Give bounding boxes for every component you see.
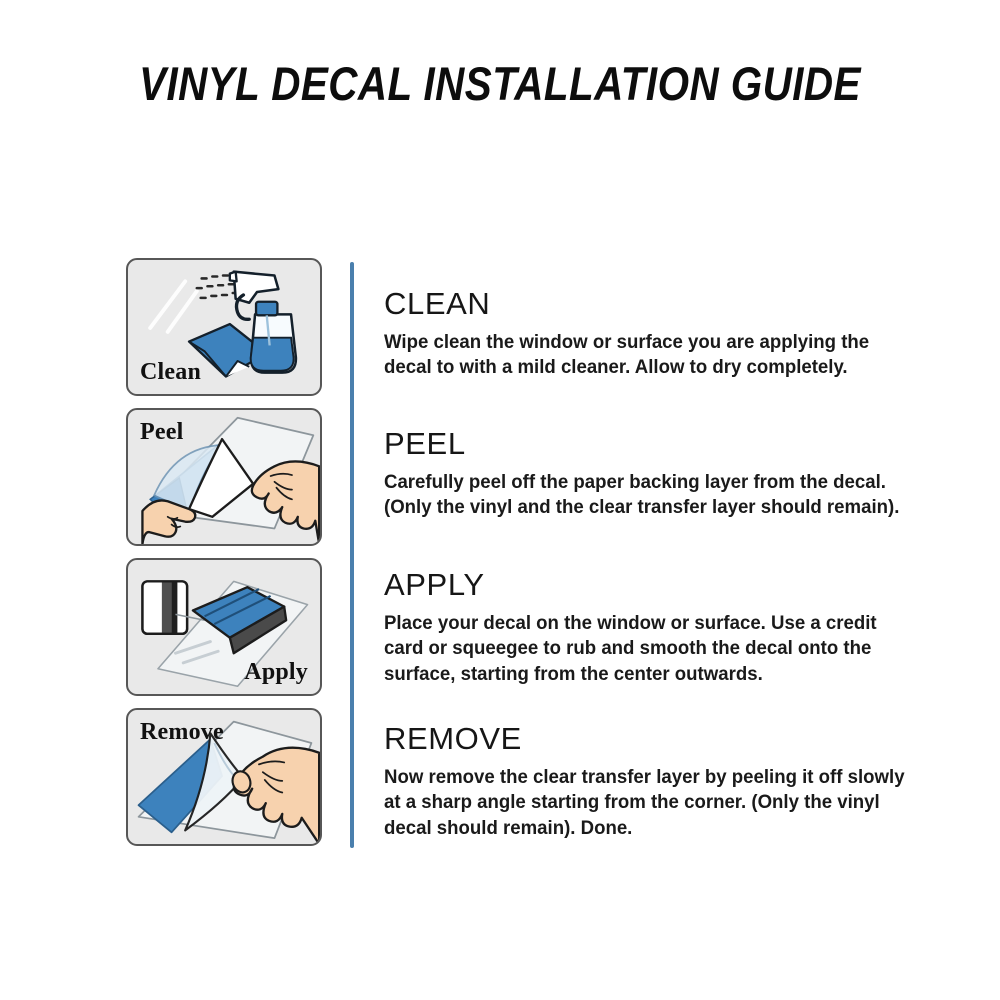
credit-card [142, 581, 187, 633]
step-line: decal to with a mild cleaner. Allow to d… [384, 355, 890, 381]
illustration-panel-column: Clean Peel [126, 258, 324, 858]
panel-apply: Apply [126, 558, 322, 696]
step-line: Place your decal on the window or surfac… [384, 611, 890, 637]
panel-label-remove: Remove [140, 720, 224, 744]
step-apply: APPLY Place your decal on the window or … [384, 569, 914, 688]
step-heading-clean: CLEAN [384, 288, 914, 321]
panel-peel: Peel [126, 408, 322, 546]
step-line: Carefully peel off the paper backing lay… [384, 470, 890, 496]
panel-remove: Remove [126, 708, 322, 846]
page-title: VINYL DECAL INSTALLATION GUIDE [70, 56, 930, 111]
panel-label-apply: Apply [244, 660, 308, 684]
step-body-apply: Place your decal on the window or surfac… [384, 611, 890, 689]
step-line: card or squeegee to rub and smooth the d… [384, 636, 890, 662]
step-heading-peel: PEEL [384, 428, 914, 461]
step-body-peel: Carefully peel off the paper backing lay… [384, 470, 890, 522]
step-heading-apply: APPLY [384, 569, 914, 602]
guide-content: Clean Peel [0, 258, 1000, 858]
step-line: (Only the vinyl and the clear transfer l… [384, 495, 890, 521]
panel-clean: Clean [126, 258, 322, 396]
vertical-divider [350, 262, 354, 848]
step-body-remove: Now remove the clear transfer layer by p… [384, 765, 890, 843]
step-line: at a sharp angle starting from the corne… [384, 790, 890, 816]
step-body-clean: Wipe clean the window or surface you are… [384, 330, 890, 382]
step-heading-remove: REMOVE [384, 723, 914, 756]
step-line: Wipe clean the window or surface you are… [384, 330, 890, 356]
panel-label-peel: Peel [140, 420, 183, 444]
step-remove: REMOVE Now remove the clear transfer lay… [384, 723, 914, 842]
step-line: surface, starting from the center outwar… [384, 662, 890, 688]
step-clean: CLEAN Wipe clean the window or surface y… [384, 288, 914, 381]
panel-label-clean: Clean [140, 360, 201, 384]
step-peel: PEEL Carefully peel off the paper backin… [384, 428, 914, 521]
step-line: decal should remain). Done. [384, 816, 890, 842]
step-line: Now remove the clear transfer layer by p… [384, 765, 890, 791]
